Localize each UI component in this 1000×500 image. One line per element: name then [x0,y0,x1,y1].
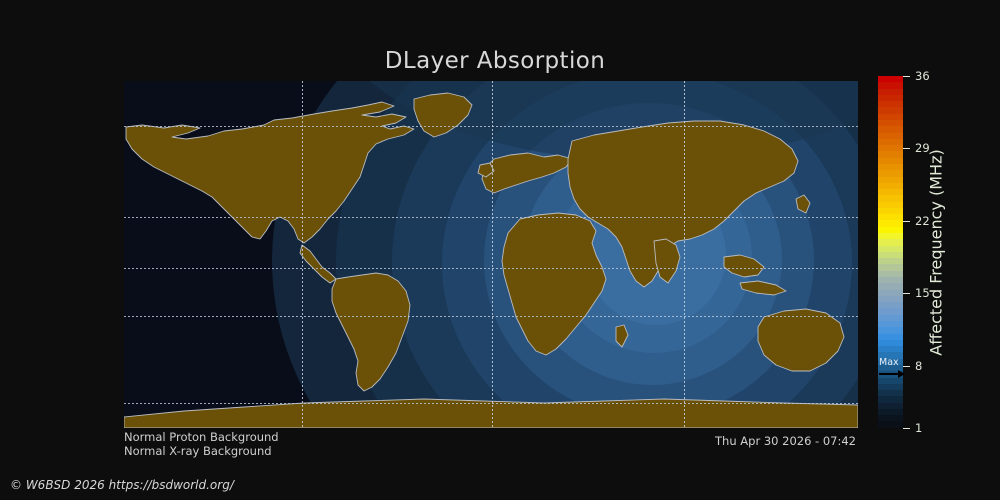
colorbar-tick [903,293,910,294]
max-marker-label: Max [878,358,908,368]
graticule-lat-0 [124,268,858,269]
graticule-lon-0 [492,81,493,428]
colorbar-segment [878,421,903,427]
timestamp-label: Thu Apr 30 2026 - 07:42 [715,434,856,448]
graticule-lat-66s [124,403,858,404]
graticule-lon-90w [302,81,303,428]
colorbar-max-marker: Max [878,358,908,382]
page-title: DLayer Absorption [0,48,990,74]
world-map[interactable] [124,81,858,428]
colorbar-tick [903,76,910,77]
colorbar-tick [903,221,910,222]
arrow-right-icon [879,370,905,378]
colorbar-tick [903,428,910,429]
xray-background-note: Normal X-ray Background [124,444,272,458]
graticule-lat-23s [124,316,858,317]
continents-layer [124,81,858,428]
colorbar-label-text: Affected Frequency (MHz) [927,149,946,355]
credit-label: © W6BSD 2026 https://bsdworld.org/ [10,478,234,492]
graticule-lat-66n [124,126,858,127]
proton-background-note: Normal Proton Background [124,430,279,444]
graticule-lat-23n [124,217,858,218]
graticule-lon-90e [684,81,685,428]
colorbar-label: Affected Frequency (MHz) [916,76,956,428]
colorbar-tick [903,148,910,149]
dlayer-absorption-page: DLayer Absorption [0,0,1000,500]
